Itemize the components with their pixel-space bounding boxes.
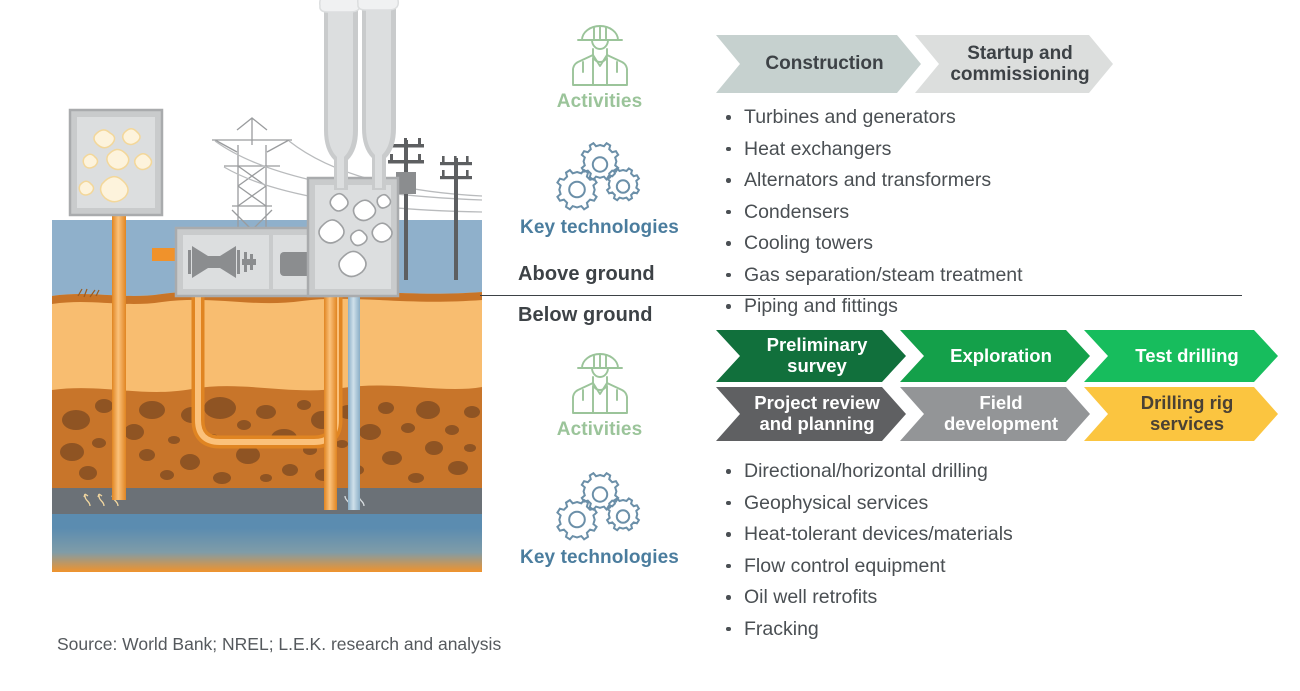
geothermal-plant-illustration [52,0,482,572]
magma-layer [52,528,482,572]
list-item: Geophysical services [718,492,1013,515]
below-ground-stage-chevrons-row2: Project review and planning Field develo… [716,387,1278,441]
source-note: Source: World Bank; NREL; L.E.K. researc… [57,634,501,655]
below-ground-stage-chevrons-row1: Preliminary survey Exploration Test dril… [716,330,1278,382]
steam-cloud-icon [320,0,399,12]
cooling-stacks [324,0,396,190]
activities-icon-block-above: Activities [512,22,687,113]
activities-icon-block-below: Activities [512,350,687,441]
stage-chevron-field-development[interactable]: Field development [900,387,1090,441]
list-item: Turbines and generators [718,106,1023,129]
activities-label: Activities [512,91,687,113]
worker-hardhat-icon [568,350,632,416]
gears-icon [555,142,645,214]
above-ground-label: Above ground [518,263,655,286]
turbine-hall-building [176,228,328,296]
list-item: Gas separation/steam treatment [718,264,1023,287]
stage-chevron-construction[interactable]: Construction [716,35,921,93]
list-item: Heat exchangers [718,138,1023,161]
list-item: Directional/horizontal drilling [718,460,1013,483]
stage-chevron-test-drilling[interactable]: Test drilling [1084,330,1278,382]
list-item: Condensers [718,201,1023,224]
above-ground-technology-list: Turbines and generators Heat exchangers … [718,106,1023,327]
list-item: Heat-tolerant devices/materials [718,523,1013,546]
list-item: Oil well retrofits [718,586,1013,609]
stage-chevron-drilling-rig-services[interactable]: Drilling rig services [1084,387,1278,441]
stage-chevron-preliminary-survey[interactable]: Preliminary survey [716,330,906,382]
flash-tank-building [70,110,162,215]
list-item: Fracking [718,618,1013,641]
activities-label: Activities [512,419,687,441]
separator-building [308,178,398,296]
gears-icon [555,472,645,544]
list-item: Flow control equipment [718,555,1013,578]
stage-chevron-exploration[interactable]: Exploration [900,330,1090,382]
worker-hardhat-icon [568,22,632,88]
key-technologies-label: Key technologies [512,547,687,569]
list-item: Alternators and transformers [718,169,1023,192]
list-item: Piping and fittings [718,295,1023,318]
above-ground-stage-chevrons: Construction Startup and commissioning [716,35,1113,93]
key-technologies-icon-block-below: Key technologies [512,472,687,569]
list-item: Cooling towers [718,232,1023,255]
stage-chevron-project-review-and-planning[interactable]: Project review and planning [716,387,906,441]
left-well-pipe [112,200,126,500]
key-technologies-label: Key technologies [512,217,687,239]
stage-chevron-startup-and-commissioning[interactable]: Startup and commissioning [915,35,1113,93]
below-ground-label: Below ground [518,304,653,327]
key-technologies-icon-block-above: Key technologies [512,142,687,239]
below-ground-technology-list: Directional/horizontal drilling Geophysi… [718,460,1013,649]
